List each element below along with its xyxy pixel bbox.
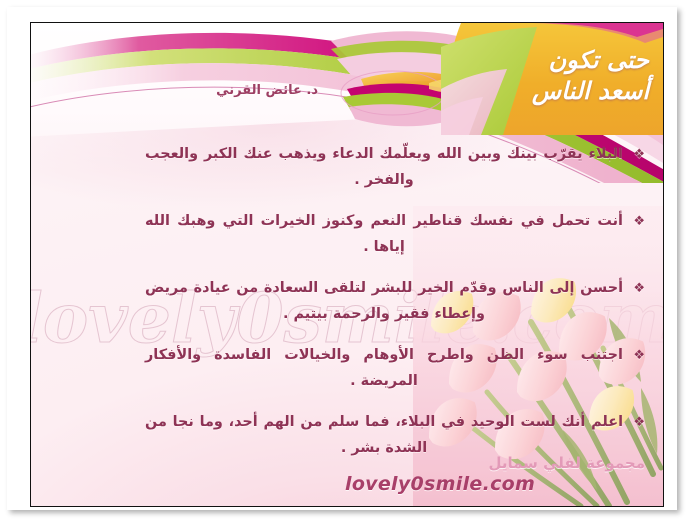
bullet-text: اعلم أنك لست الوحيد في البلاء، فما سلم م… <box>145 414 623 456</box>
footer-group-name: مجموعة لفلي سمايل <box>345 454 645 473</box>
list-item: ❖ اجتنب سوء الظن واطرح الأوهام والخيالات… <box>145 342 645 394</box>
bullet-marker-icon: ❖ <box>633 410 645 436</box>
card-canvas: حتى تكون أسعد الناس د. عائض القرني lovel… <box>0 0 692 525</box>
footer-website[interactable]: lovely0smile.com <box>345 473 645 496</box>
bullet-text: اجتنب سوء الظن واطرح الأوهام والخيالات ا… <box>145 347 623 389</box>
bullet-text: البلاء يقرّب بينك وبين الله ويعلّمك الدع… <box>145 146 623 188</box>
bullet-marker-icon: ❖ <box>633 209 645 235</box>
card-title-line1: حتى تكون <box>549 46 649 74</box>
list-item: ❖ أحسن إلى الناس وقدّم الخير للبشر لتلقى… <box>145 275 645 327</box>
bullet-marker-icon: ❖ <box>633 343 645 369</box>
title-banner: حتى تكون أسعد الناس <box>441 23 663 135</box>
list-item: ❖ أنت تحمل في نفسك قناطير النعم وكنوز ال… <box>145 208 645 260</box>
list-item: ❖ البلاء يقرّب بينك وبين الله ويعلّمك ال… <box>145 141 645 193</box>
bullet-marker-icon: ❖ <box>633 142 645 168</box>
card-title-line2: أسعد الناس <box>453 76 649 107</box>
card-frame: حتى تكون أسعد الناس د. عائض القرني lovel… <box>30 22 664 507</box>
card-title: حتى تكون أسعد الناس <box>453 45 649 107</box>
bullet-text: أحسن إلى الناس وقدّم الخير للبشر لتلقى ا… <box>145 280 623 322</box>
bullet-list: ❖ البلاء يقرّب بينك وبين الله ويعلّمك ال… <box>145 141 645 476</box>
bullet-text: أنت تحمل في نفسك قناطير النعم وكنوز الخي… <box>145 213 623 255</box>
footer: مجموعة لفلي سمايل lovely0smile.com <box>345 454 645 496</box>
bullet-marker-icon: ❖ <box>633 276 645 302</box>
author-name: د. عائض القرني <box>216 83 318 98</box>
